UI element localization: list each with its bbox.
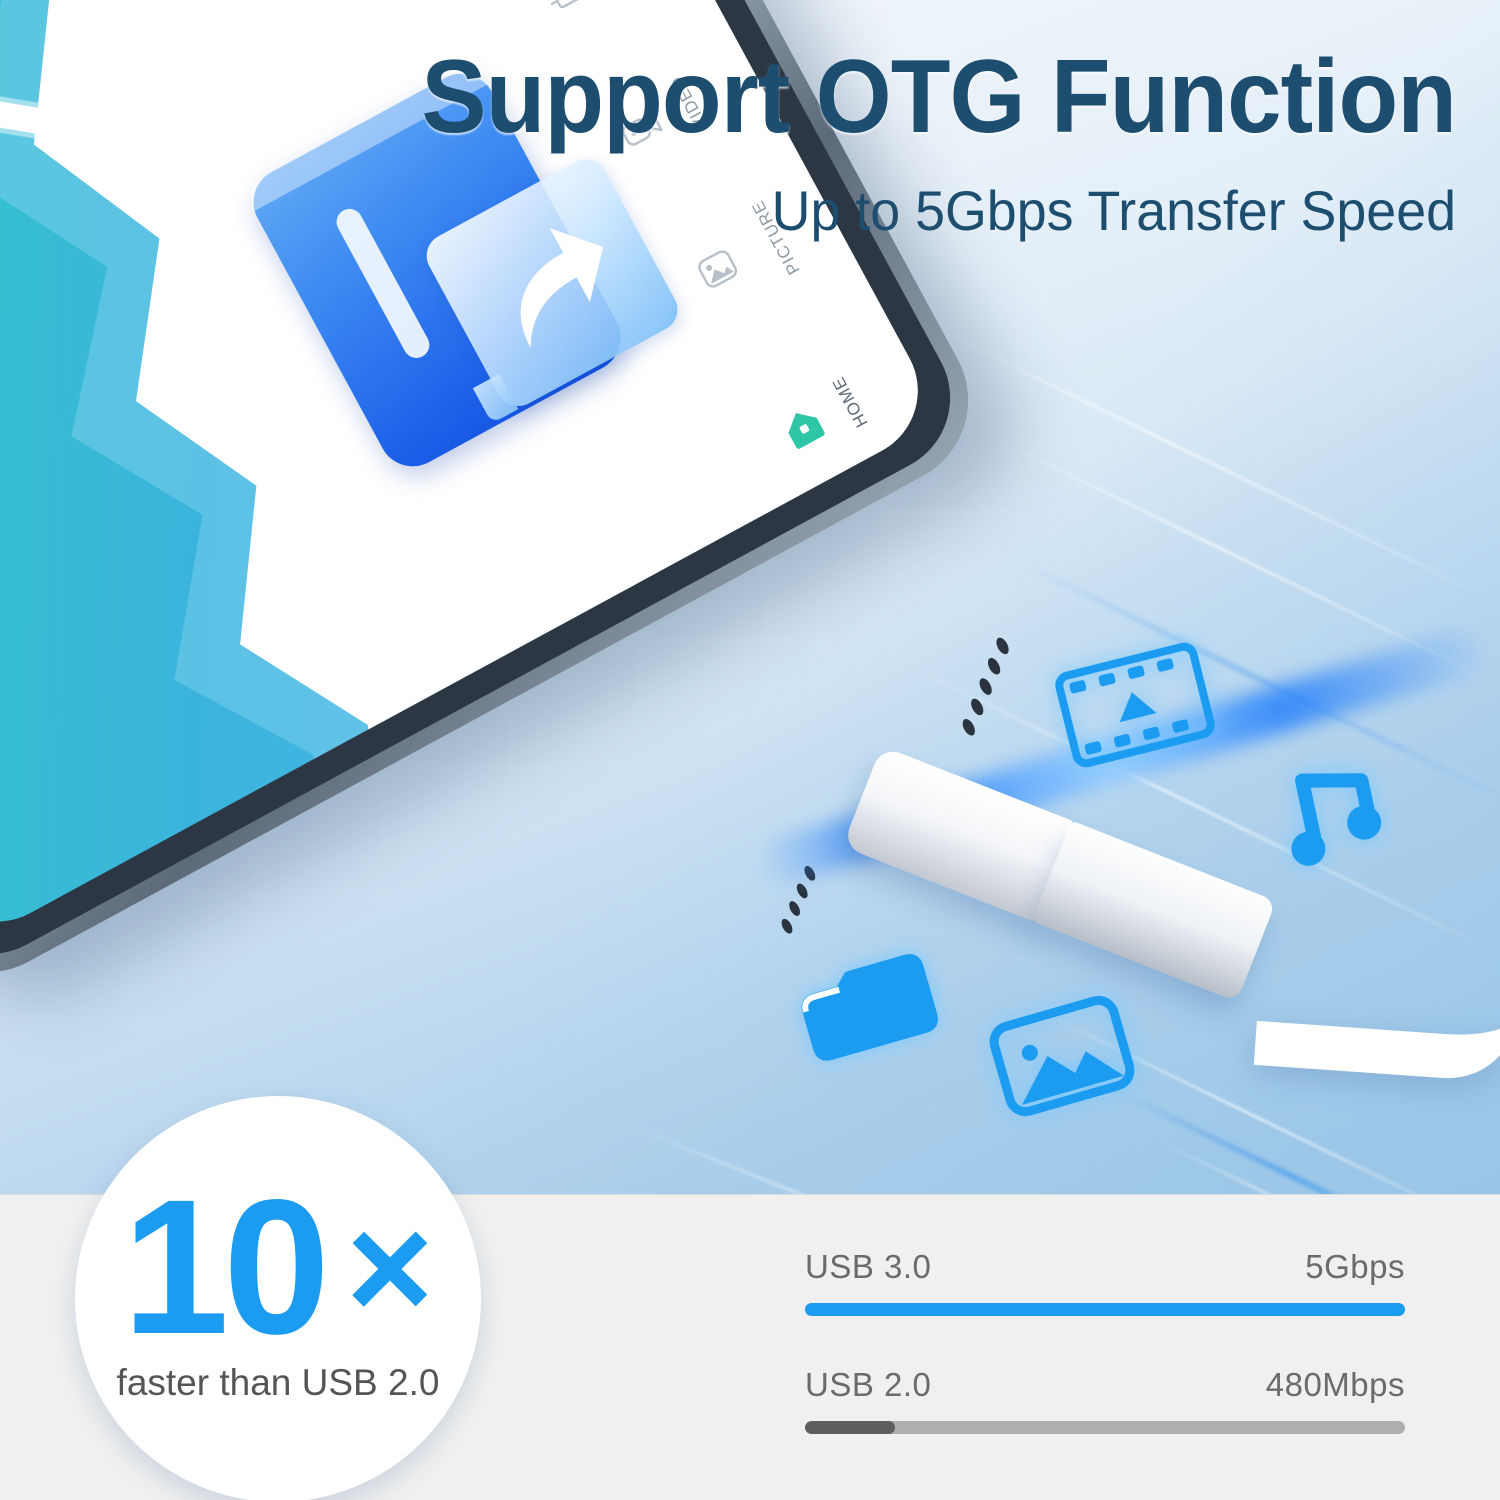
nav-item-label: HOME (829, 373, 873, 431)
music-note-icon (1262, 750, 1395, 883)
speed-bar-fill (805, 1421, 895, 1434)
page-subtitle: Up to 5Gbps Transfer Speed (538, 180, 1456, 242)
speed-comparison: USB 3.0 5Gbps USB 2.0 480Mbps (805, 1248, 1405, 1484)
speed-row-usb2: USB 2.0 480Mbps (805, 1366, 1405, 1434)
speed-label: USB 3.0 (805, 1248, 931, 1286)
product-marketing-image: ✦ (0, 0, 1500, 1500)
badge-number: 10 (122, 1188, 324, 1345)
badge-multiplier-symbol: × (346, 1206, 434, 1329)
speed-bar-fill (805, 1303, 1405, 1316)
page-title: Support OTG Function (366, 44, 1456, 150)
app-doc-slot (332, 204, 434, 362)
speed-bar-track (805, 1303, 1405, 1316)
speed-bar-track (805, 1421, 1405, 1434)
speed-label: USB 2.0 (805, 1366, 931, 1404)
badge-caption: faster than USB 2.0 (117, 1362, 440, 1404)
speed-value: 5Gbps (1305, 1248, 1405, 1286)
speed-multiplier-badge: 10 × faster than USB 2.0 (75, 1096, 481, 1500)
white-usb-cable (1254, 935, 1500, 1083)
speed-row-usb3: USB 3.0 5Gbps (805, 1248, 1405, 1316)
speed-value: 480Mbps (1266, 1366, 1405, 1404)
